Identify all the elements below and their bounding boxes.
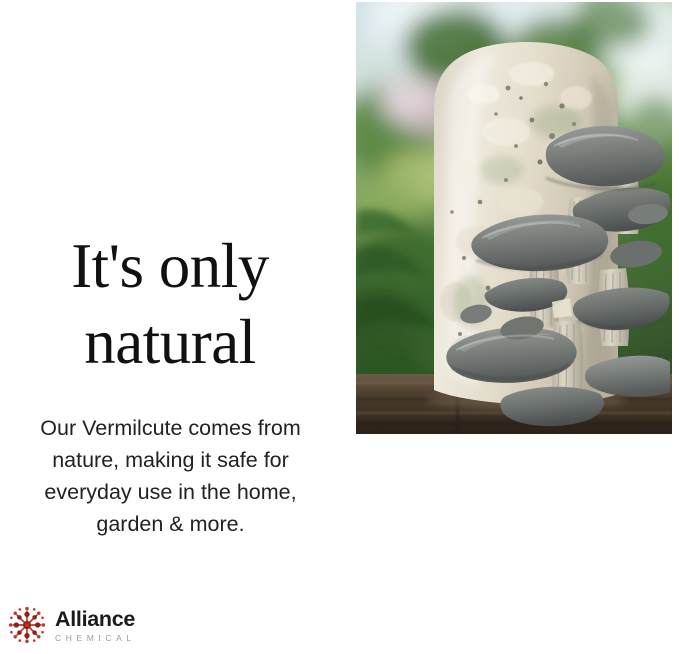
advertisement-canvas: It's only natural Our Vermilcute comes f… (0, 0, 679, 654)
headline-line-1: It's only (0, 228, 340, 304)
logo-wordmark: Alliance CHEMICAL (55, 606, 136, 644)
headline-line-2: natural (0, 304, 340, 380)
body-copy: Our Vermilcute comes from nature, making… (8, 412, 333, 540)
product-photo (356, 2, 672, 434)
logo-name: Alliance (55, 608, 136, 630)
brand-logo: Alliance CHEMICAL (8, 606, 136, 644)
text-column: It's only natural Our Vermilcute comes f… (0, 0, 340, 590)
page-title: It's only natural (0, 228, 340, 380)
molecule-icon (8, 606, 46, 644)
logo-subtitle: CHEMICAL (55, 630, 136, 644)
